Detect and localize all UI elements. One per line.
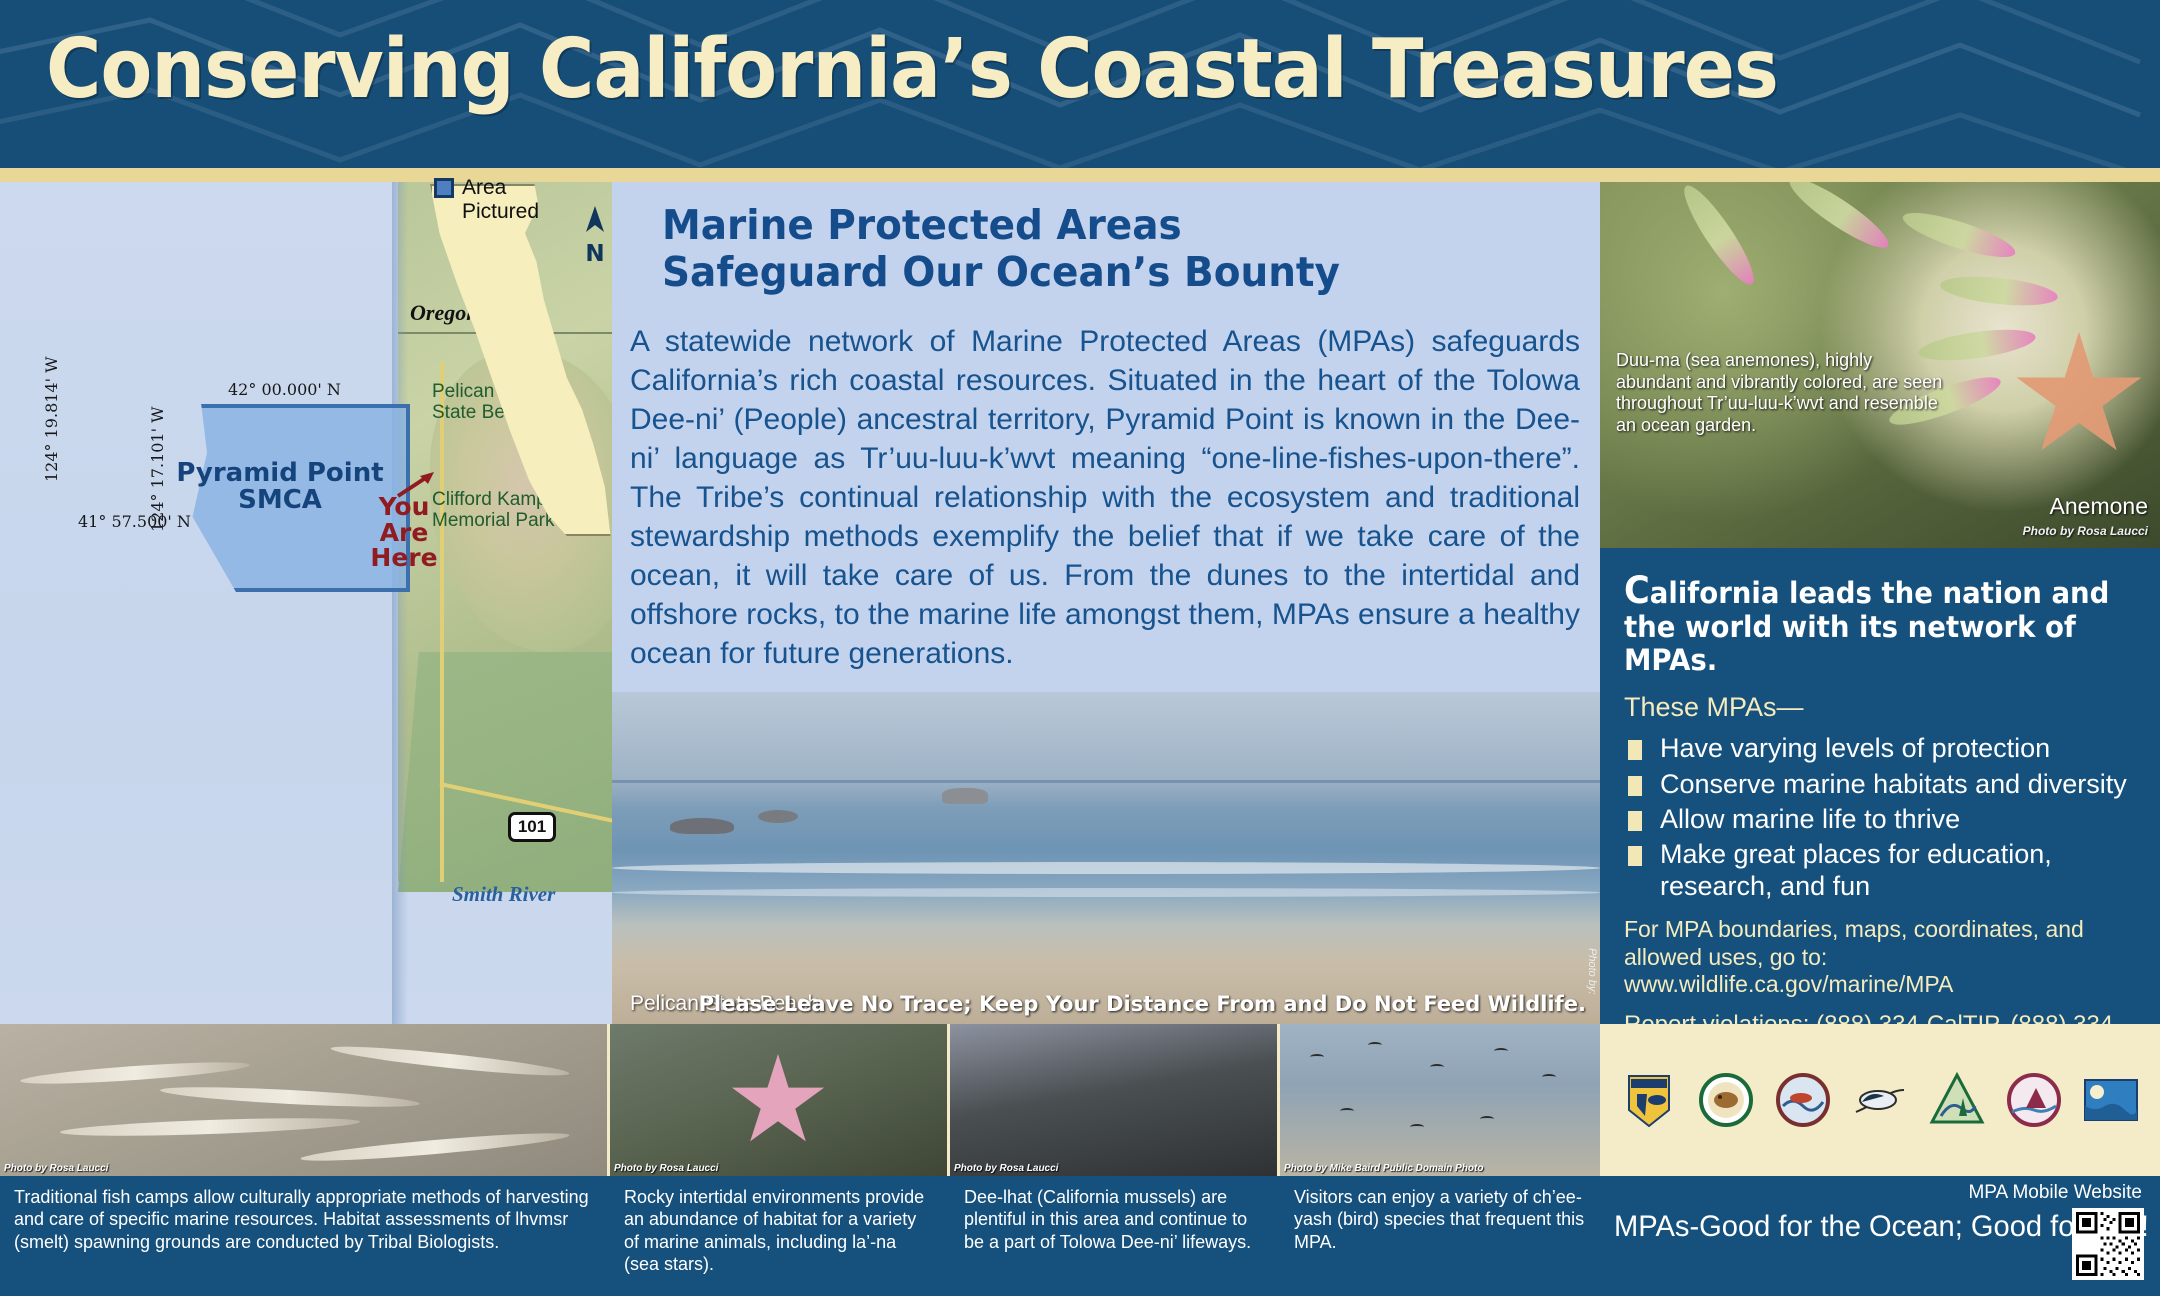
fish-camp-photo: Photo by Rosa Laucci — [0, 1024, 610, 1176]
info-heading: California leads the nation and the worl… — [1624, 570, 2110, 676]
offshore-rock-icon — [942, 788, 988, 804]
anemone-photo: Duu-ma (sea anemones), highly abundant a… — [1600, 182, 2160, 548]
sign-header: Conserving California’s Coastal Treasure… — [0, 0, 2160, 168]
california-fish-and-wildlife-logo — [1621, 1072, 1677, 1128]
main-text-panel: Marine Protected Areas Safeguard Our Oce… — [612, 182, 1600, 692]
photo-credit: Photo by Rosa Laucci — [4, 1163, 108, 1174]
main-heading-line1: Marine Protected Areas — [662, 202, 1517, 249]
sea-star-icon — [2014, 332, 2144, 462]
list-item: Have varying levels of protection — [1624, 733, 2136, 764]
california-ocean-protection-council-logo — [2083, 1072, 2139, 1128]
you-are-here-line2: Here — [352, 545, 456, 571]
bottom-photo-row: Photo by Rosa Laucci Photo by Rosa Laucc… — [0, 1024, 1600, 1176]
photo-credit: Photo by Rosa Laucci — [614, 1163, 718, 1174]
mussel-bed-photo: Photo by Rosa Laucci — [950, 1024, 1280, 1176]
beach-rock-icon — [670, 818, 734, 834]
bottom-caption-bar: Traditional fish camps allow culturally … — [0, 1176, 1600, 1296]
bird-icon — [1368, 1042, 1382, 1048]
smelt-fish-icon — [330, 1041, 570, 1080]
anemone-photo-credit: Photo by Rosa Laucci — [2023, 524, 2148, 538]
list-item: Make great places for education, researc… — [1624, 839, 2136, 902]
north-arrow: N — [578, 206, 612, 267]
sea-star-photo: Photo by Rosa Laucci — [610, 1024, 950, 1176]
bird-icon — [1430, 1064, 1444, 1070]
surf-line-2 — [612, 888, 1600, 897]
square-bullet-icon — [1628, 846, 1642, 866]
coord-west-longitude-south: 124° 17.101' W — [148, 406, 167, 532]
page-title: Conserving California’s Coastal Treasure… — [46, 22, 1778, 117]
beach-rock-2-icon — [758, 810, 798, 823]
interpretive-sign: Conserving California’s Coastal Treasure… — [0, 0, 2160, 1296]
anemone-tentacle-5 — [1783, 182, 1895, 257]
surf-line-1 — [612, 862, 1600, 874]
area-pictured-marker-icon — [434, 178, 454, 198]
bird-icon — [1310, 1054, 1324, 1060]
mpa-info-panel: California leads the nation and the worl… — [1600, 548, 2160, 1024]
photo-credit: Photo by Rosa Laucci — [954, 1163, 1058, 1174]
area-pictured-label: Area Pictured — [462, 176, 539, 223]
bullet-label: Make great places for education, researc… — [1660, 839, 2052, 900]
noaa-fisheries-logo — [1775, 1072, 1831, 1128]
smelt-fish-icon — [20, 1058, 250, 1088]
shorebirds-photo: Photo by Mike Baird Public Domain Photo — [1280, 1024, 1600, 1176]
leave-no-trace-notice: Please Leave No Trace; Keep Your Distanc… — [699, 992, 1586, 1016]
anemone-photo-title: Anemone — [2050, 493, 2148, 520]
bullet-label: Have varying levels of protection — [1660, 733, 2050, 763]
coord-north-latitude: 42° 00.000' N — [228, 380, 341, 399]
mpa-boundaries-note[interactable]: For MPA boundaries, maps, coordinates, a… — [1624, 916, 2084, 997]
anemone-tentacle-1 — [1899, 204, 2019, 265]
bullet-label: Allow marine life to thrive — [1660, 804, 1960, 834]
area-pictured-line2: Pictured — [462, 200, 539, 224]
horizon-line — [612, 780, 1600, 783]
area-pictured-line1: Area — [462, 176, 539, 200]
photo-credit: Photo by Mike Baird Public Domain Photo — [1284, 1163, 1483, 1174]
footer-slogan-bar: MPA Mobile Website MPAs-Good for the Oce… — [1600, 1176, 2160, 1296]
anemone-tentacle-6 — [1675, 182, 1763, 291]
main-body-text: A statewide network of Marine Protected … — [630, 322, 1580, 673]
caption-mussels: Dee-lhat (California mussels) are plenti… — [950, 1176, 1280, 1296]
square-bullet-icon — [1628, 776, 1642, 796]
list-item: Conserve marine habitats and diversity — [1624, 769, 2136, 800]
beach-photo: Pelican State Beach Please Leave No Trac… — [612, 692, 1600, 1024]
gold-divider — [0, 168, 2160, 182]
smelt-fish-icon — [300, 1128, 570, 1165]
mpa-benefits-list: Have varying levels of protection Conser… — [1624, 733, 2136, 902]
bullets-intro: These MPAs— — [1624, 692, 2136, 723]
coord-south-latitude: 41° 57.500' N — [78, 512, 191, 531]
square-bullet-icon — [1628, 740, 1642, 760]
land-area-south — [398, 652, 612, 892]
smith-river-label: Smith River — [452, 882, 555, 907]
beach-photo-credit: Photo by: — [1586, 948, 1598, 994]
coord-west-longitude-north: 124° 19.814' W — [42, 356, 61, 482]
footer-slogan: MPAs-Good for the Ocean; Good for You! — [1614, 1210, 2021, 1244]
coastline — [392, 182, 408, 1024]
info-heading-dropcap: C — [1624, 569, 1650, 612]
california-state-parks-logo — [1698, 1072, 1754, 1128]
list-item: Allow marine life to thrive — [1624, 804, 2136, 835]
california-coastal-national-monument-logo — [2006, 1072, 2062, 1128]
anemone-caption: Duu-ma (sea anemones), highly abundant a… — [1616, 350, 1946, 436]
highway-shield-101: 101 — [508, 812, 556, 842]
north-label: N — [578, 241, 612, 267]
qr-code[interactable] — [2072, 1208, 2144, 1280]
info-heading-rest: alifornia leads the nation and the world… — [1624, 576, 2109, 677]
north-arrow-icon — [580, 206, 610, 236]
bird-icon — [1542, 1074, 1556, 1080]
bird-icon — [1340, 1108, 1354, 1114]
anemone-tentacle-2 — [1939, 272, 2059, 310]
mpa-mobile-website-label: MPA Mobile Website — [1968, 1182, 2142, 1204]
caption-birds: Visitors can enjoy a variety of ch’ee-ya… — [1280, 1176, 1600, 1296]
square-bullet-icon — [1628, 811, 1642, 831]
partner-logo-strip — [1600, 1024, 2160, 1176]
smca-label-line1: Pyramid Point — [165, 460, 395, 487]
caption-fish-camp: Traditional fish camps allow culturally … — [0, 1176, 610, 1296]
qr-code-icon[interactable] — [2076, 1212, 2140, 1276]
sea-star-icon — [730, 1054, 826, 1150]
main-heading-line2: Safeguard Our Ocean’s Bounty — [662, 249, 1517, 296]
bureau-of-land-management-logo — [1929, 1072, 1985, 1128]
caption-rocky-intertidal: Rocky intertidal environments provide an… — [610, 1176, 950, 1296]
california-marine-sanctuary-foundation-logo — [1852, 1072, 1908, 1128]
main-heading: Marine Protected Areas Safeguard Our Oce… — [662, 202, 1517, 295]
smelt-fish-icon — [160, 1083, 420, 1111]
bird-icon — [1480, 1116, 1494, 1122]
bullet-label: Conserve marine habitats and diversity — [1660, 769, 2127, 799]
bird-icon — [1494, 1048, 1508, 1054]
bird-icon — [1410, 1124, 1424, 1130]
smelt-fish-icon — [60, 1115, 360, 1139]
